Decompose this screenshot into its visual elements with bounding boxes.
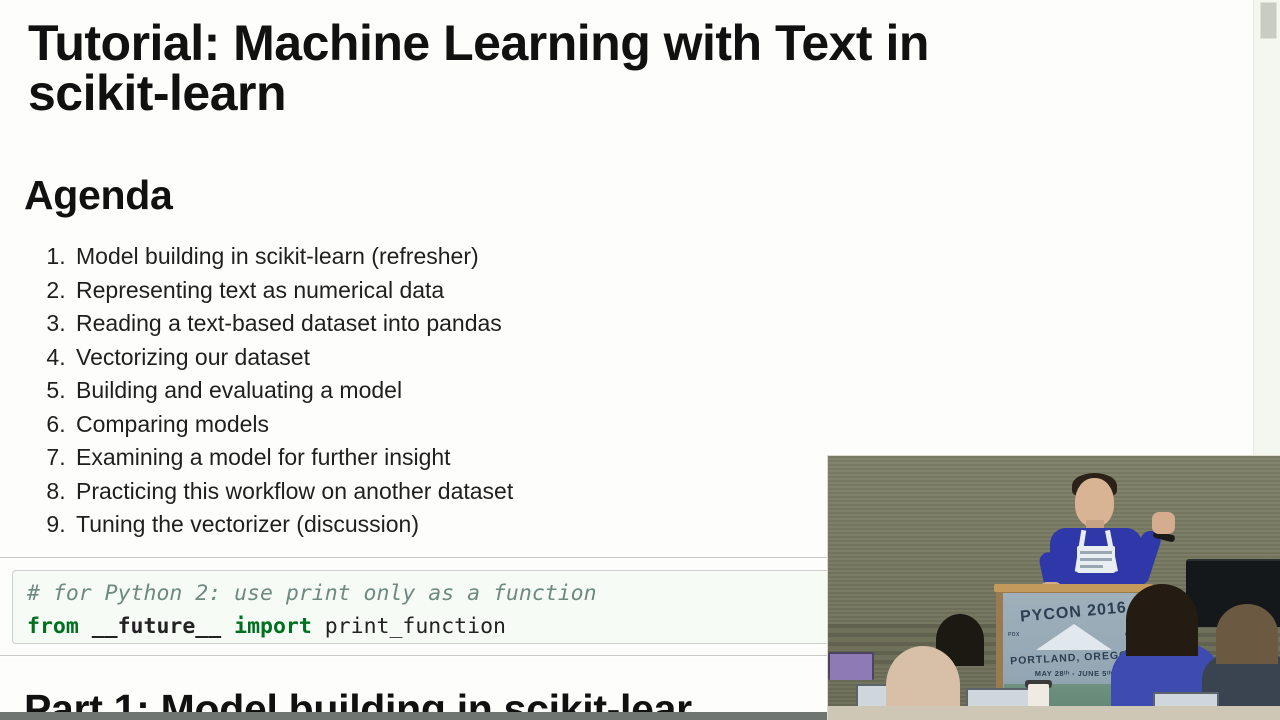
page-title-line-2: scikit-learn — [28, 68, 1158, 118]
code-module-future: __future__ — [79, 614, 234, 639]
list-item: Model building in scikit-learn (refreshe… — [72, 240, 513, 274]
speaker-video-overlay[interactable]: PYCON 2016 PDX CITY PORTLAND, OREGON MAY… — [827, 455, 1280, 720]
page-title: Tutorial: Machine Learning with Text in … — [28, 18, 1158, 118]
code-name-print-function: print_function — [312, 614, 506, 639]
podium-top — [994, 584, 1153, 592]
code-keyword-from: from — [27, 614, 79, 639]
list-item: Practicing this workflow on another data… — [72, 475, 513, 509]
agenda-heading: Agenda — [24, 172, 173, 219]
page-title-line-1: Tutorial: Machine Learning with Text in — [28, 15, 929, 71]
mountain-logo-icon — [1036, 624, 1112, 650]
audience-table — [828, 706, 1280, 720]
list-item: Tuning the vectorizer (discussion) — [72, 508, 513, 542]
audience-person — [1216, 604, 1278, 664]
list-item: Building and evaluating a model — [72, 374, 513, 408]
speaker-fist — [1152, 512, 1175, 534]
code-comment-line: # for Python 2: use print only as a func… — [27, 581, 597, 606]
audience-laptop — [828, 652, 874, 680]
podium-sign-left-mark: PDX — [1008, 632, 1020, 638]
list-item: Examining a model for further insight — [72, 441, 513, 475]
speaker-badge — [1077, 546, 1115, 573]
list-item: Comparing models — [72, 408, 513, 442]
list-item: Vectorizing our dataset — [72, 341, 513, 375]
list-item: Reading a text-based dataset into pandas — [72, 307, 513, 341]
agenda-list: Model building in scikit-learn (refreshe… — [44, 240, 513, 542]
screen-recording-frame: Tutorial: Machine Learning with Text in … — [0, 0, 1280, 720]
list-item: Representing text as numerical data — [72, 274, 513, 308]
audience-person — [1126, 584, 1198, 656]
code-keyword-import: import — [234, 614, 312, 639]
scrollbar-thumb[interactable] — [1260, 2, 1277, 39]
